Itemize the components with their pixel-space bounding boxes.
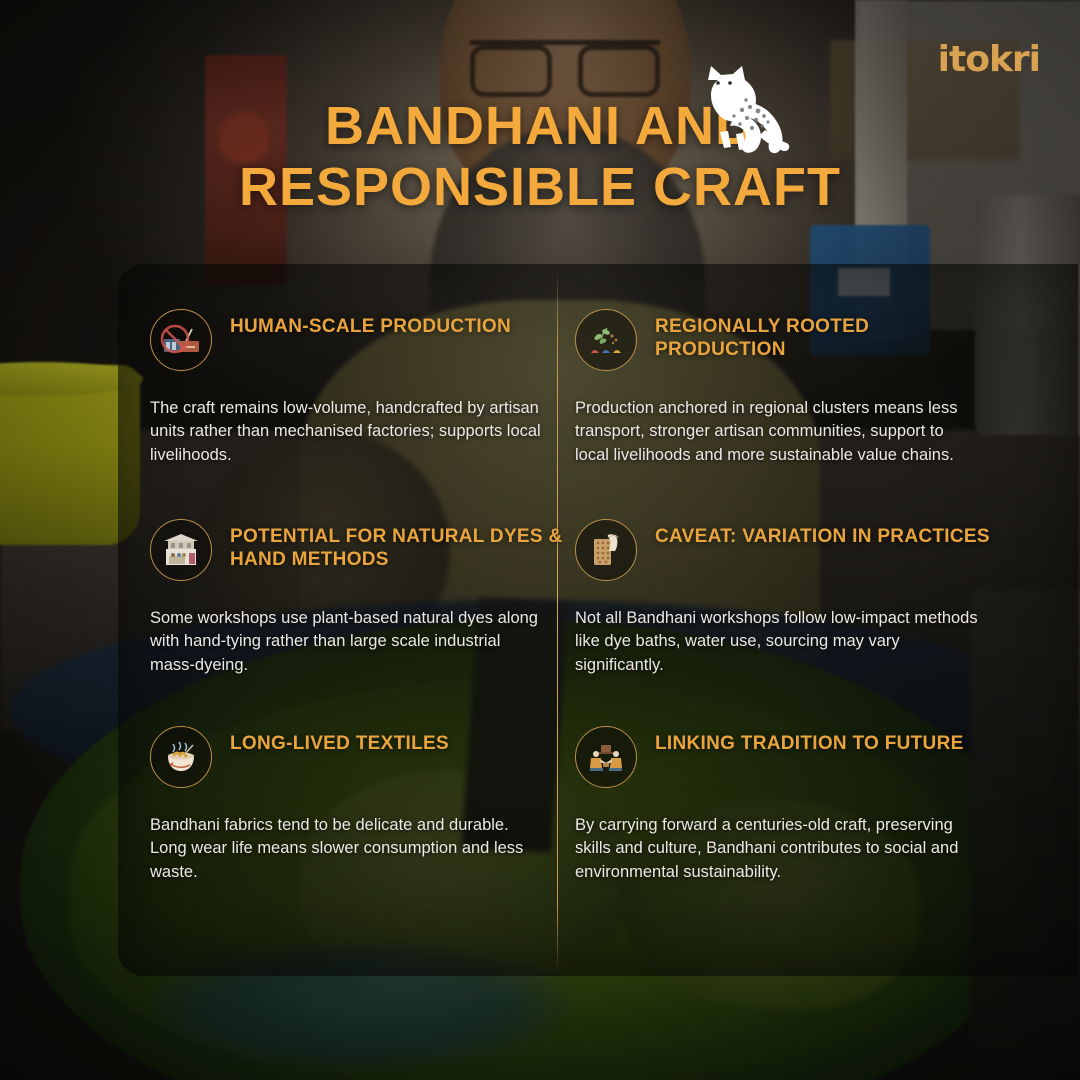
- card-body: By carrying forward a centuries-old craf…: [575, 814, 979, 884]
- steaming-dye-pot-icon: [150, 726, 212, 788]
- card-regionally-rooted-production: REGIONALLY ROOTED PRODUCTION Production …: [575, 309, 995, 467]
- card-natural-dyes-hand-methods: POTENTIAL FOR NATURAL DYES & HAND METHOD…: [150, 519, 570, 677]
- two-artisans-seated-icon: [575, 726, 637, 788]
- card-caveat-variation-in-practices: CAVEAT: VARIATION IN PRACTICES Not all B…: [575, 519, 995, 677]
- card-title: REGIONALLY ROOTED PRODUCTION: [655, 309, 995, 361]
- card-title: CAVEAT: VARIATION IN PRACTICES: [655, 519, 990, 548]
- card-header: LONG-LIVED TEXTILES: [150, 726, 570, 788]
- card-title: LINKING TRADITION TO FUTURE: [655, 726, 964, 755]
- card-header: CAVEAT: VARIATION IN PRACTICES: [575, 519, 995, 581]
- sprout-with-dye-powders-icon: [575, 309, 637, 371]
- card-body: Production anchored in regional clusters…: [575, 397, 979, 467]
- page-title-line-1: BANDHANI AND: [0, 96, 1080, 157]
- card-header: HUMAN-SCALE PRODUCTION: [150, 309, 570, 371]
- card-title: LONG-LIVED TEXTILES: [230, 726, 449, 755]
- infographic-canvas: itokri BANDHANI AND RESPONSIBLE CRAFT: [0, 0, 1080, 1080]
- card-header: LINKING TRADITION TO FUTURE: [575, 726, 995, 788]
- card-title: HUMAN-SCALE PRODUCTION: [230, 309, 511, 338]
- card-body: Bandhani fabrics tend to be delicate and…: [150, 814, 548, 884]
- hand-holding-patterned-fabric-icon: [575, 519, 637, 581]
- card-header: POTENTIAL FOR NATURAL DYES & HAND METHOD…: [150, 519, 570, 581]
- card-body: Not all Bandhani workshops follow low-im…: [575, 607, 979, 677]
- cards-grid: HUMAN-SCALE PRODUCTION The craft remains…: [118, 264, 1080, 976]
- no-factory-icon: [150, 309, 212, 371]
- page-title-line-2: RESPONSIBLE CRAFT: [0, 157, 1080, 218]
- card-long-lived-textiles: LONG-LIVED TEXTILES Bandhani fabrics ten…: [150, 726, 570, 884]
- page-title: BANDHANI AND RESPONSIBLE CRAFT: [0, 96, 1080, 218]
- card-linking-tradition-to-future: LINKING TRADITION TO FUTURE By carrying …: [575, 726, 995, 884]
- card-human-scale-production: HUMAN-SCALE PRODUCTION The craft remains…: [150, 309, 570, 467]
- card-body: Some workshops use plant-based natural d…: [150, 607, 548, 677]
- card-header: REGIONALLY ROOTED PRODUCTION: [575, 309, 995, 371]
- card-body: The craft remains low-volume, handcrafte…: [150, 397, 548, 467]
- cat-illustration-icon: [690, 58, 800, 163]
- card-title: POTENTIAL FOR NATURAL DYES & HAND METHOD…: [230, 519, 570, 571]
- brand-logo-text: itokri: [938, 42, 1040, 78]
- brand-logo[interactable]: itokri: [938, 42, 1040, 78]
- craft-workshop-building-icon: [150, 519, 212, 581]
